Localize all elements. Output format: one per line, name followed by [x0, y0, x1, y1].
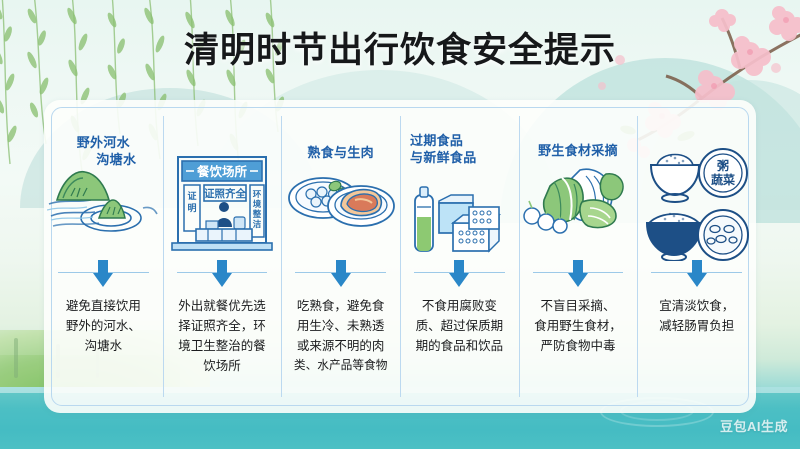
hill-and-pond-water-icon — [44, 156, 163, 261]
rice-bowls-and-porridge-icon: 粥 蔬菜 — [637, 135, 756, 263]
column-illustration-area: 餐饮场所 证 明 证照齐全 环 境 整 洁 — [163, 100, 282, 267]
advice-column-dining-venue[interactable]: 餐饮场所 证 明 证照齐全 环 境 整 洁 — [163, 100, 282, 413]
column-advice-text: 不食用腐败变 质、超过保质期 期的食品和饮品 — [400, 296, 519, 403]
advice-column-expired-vs-fresh[interactable]: 过期食品 与新鲜食品 — [400, 100, 519, 413]
tree-trunk-icon — [14, 338, 18, 378]
advice-line: 不食用腐败变 — [409, 296, 510, 316]
column-illustration-area: 过期食品 与新鲜食品 — [400, 100, 519, 267]
column-heading: 过期食品 与新鲜食品 — [400, 132, 519, 166]
svg-text:洁: 洁 — [253, 219, 262, 229]
column-advice-text: 吃熟食，避免食 用生冷、未熟透 或来源不明的肉 类、水产品等食物 — [281, 296, 400, 403]
column-illustration-area: 野外河水 沟塘水 — [44, 100, 163, 267]
watermark: 豆包AI生成 — [720, 416, 788, 435]
advice-line: 沟塘水 — [53, 336, 154, 356]
plates-cooked-food-and-raw-meat-icon — [281, 156, 400, 261]
advice-line: 野外的河水、 — [53, 316, 154, 336]
column-heading-line: 野外河水 — [44, 134, 163, 151]
advice-line: 质、超过保质期 — [409, 316, 510, 336]
advice-line: 不盲目采摘、 — [528, 296, 629, 316]
column-illustration-area: 粥 蔬菜 — [637, 100, 756, 267]
restaurant-storefront-icon: 餐饮场所 证 明 证照齐全 环 境 整 洁 — [163, 135, 282, 265]
svg-text:境: 境 — [253, 199, 262, 209]
svg-text:证照齐全: 证照齐全 — [204, 187, 246, 200]
fresh-vegetables-icon — [519, 156, 638, 261]
advice-line: 吃熟食，避免食 — [290, 296, 391, 316]
column-advice-text: 避免直接饮用 野外的河水、 沟塘水 — [44, 296, 163, 403]
advice-line: 用生冷、未熟透 — [290, 316, 391, 336]
column-heading-line: 过期食品 — [410, 132, 519, 149]
svg-text:明: 明 — [187, 203, 196, 213]
bowl-label: 蔬菜 — [711, 172, 735, 187]
advice-line: 期的食品和饮品 — [409, 336, 510, 356]
advice-line: 严防食物中毒 — [528, 336, 629, 356]
advice-column-wild-foraging[interactable]: 野生食材采摘 — [519, 100, 638, 413]
advice-card: 野外河水 沟塘水 — [44, 100, 756, 413]
advice-line: 外出就餐优先选 — [172, 296, 273, 316]
infographic-canvas: 清明时节出行饮食安全提示 野外河水 沟塘水 — [0, 0, 800, 449]
down-arrow-icon — [330, 260, 352, 287]
column-heading-line: 与新鲜食品 — [410, 149, 519, 166]
bowl-label: 粥 — [717, 158, 729, 173]
bottle-and-packaged-food-boxes-icon — [400, 183, 519, 261]
advice-column-light-diet[interactable]: 粥 蔬菜 — [637, 100, 756, 413]
page-title: 清明时节出行饮食安全提示 — [0, 22, 800, 73]
advice-column-wild-water[interactable]: 野外河水 沟塘水 — [44, 100, 163, 413]
svg-text:环: 环 — [253, 189, 262, 199]
column-advice-text: 宜清淡饮食， 减轻肠胃负担 — [637, 296, 756, 403]
down-arrow-icon — [92, 260, 114, 287]
svg-text:整: 整 — [253, 209, 262, 219]
advice-line: 类、水产品等食物 — [290, 356, 391, 376]
down-arrow-icon — [567, 260, 589, 287]
advice-line: 避免直接饮用 — [53, 296, 154, 316]
advice-columns: 野外河水 沟塘水 — [44, 100, 756, 413]
advice-line: 食用野生食材， — [528, 316, 629, 336]
advice-line: 择证照齐全，环 — [172, 316, 273, 336]
column-illustration-area: 熟食与生肉 — [281, 100, 400, 267]
column-advice-text: 外出就餐优先选 择证照齐全，环 境卫生整治的餐 饮场所 — [163, 296, 282, 403]
column-illustration-area: 野生食材采摘 — [519, 100, 638, 267]
down-arrow-icon — [448, 260, 470, 287]
advice-line: 境卫生整治的餐 — [172, 336, 273, 356]
down-arrow-icon — [211, 260, 233, 287]
svg-text:证: 证 — [187, 191, 196, 201]
column-advice-text: 不盲目采摘、 食用野生食材， 严防食物中毒 — [519, 296, 638, 403]
storefront-sign-label: 餐饮场所 — [196, 164, 248, 179]
advice-column-cooked-vs-raw[interactable]: 熟食与生肉 — [281, 100, 400, 413]
advice-line: 饮场所 — [172, 356, 273, 376]
advice-line: 或来源不明的肉 — [290, 336, 391, 356]
advice-line: 减轻肠胃负担 — [646, 316, 747, 336]
down-arrow-icon — [686, 260, 708, 287]
advice-line: 宜清淡饮食， — [646, 296, 747, 316]
